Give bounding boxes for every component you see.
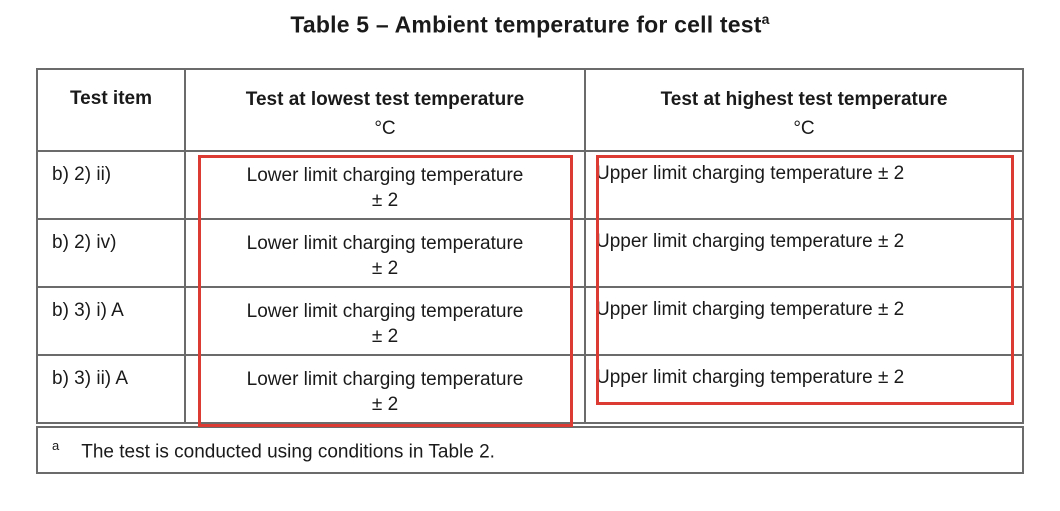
cell-lowest-temperature-line1: Lower limit charging temperature <box>247 233 524 254</box>
cell-lowest-temperature-line1: Lower limit charging temperature <box>247 301 524 322</box>
cell-test-item-text: b) 2) iv) <box>38 220 184 254</box>
cell-lowest-temperature-line1: Lower limit charging temperature <box>247 165 524 186</box>
column-header-highest-temperature-unit: °C <box>594 116 1014 142</box>
cell-lowest-temperature-line2: ± 2 <box>372 258 398 279</box>
cell-test-item-text: b) 3) i) A <box>38 288 184 322</box>
cell-highest-temperature-text: Upper limit charging temperature ± 2 <box>586 288 1022 321</box>
column-header-test-item-label: Test item <box>38 70 184 110</box>
table-footnote-row: aThe test is conducted using conditions … <box>37 427 1023 473</box>
cell-highest-temperature: Upper limit charging temperature ± 2 <box>585 355 1023 423</box>
column-header-highest-temperature: Test at highest test temperature °C <box>585 69 1023 151</box>
cell-lowest-temperature: Lower limit charging temperature ± 2 <box>185 355 585 423</box>
column-header-test-item: Test item <box>37 69 185 151</box>
cell-lowest-temperature: Lower limit charging temperature ± 2 <box>185 151 585 219</box>
cell-highest-temperature-text: Upper limit charging temperature ± 2 <box>586 220 1022 253</box>
table-row: b) 3) i) A Lower limit charging temperat… <box>37 287 1023 355</box>
cell-highest-temperature: Upper limit charging temperature ± 2 <box>585 287 1023 355</box>
page-title-text: Table 5 – Ambient temperature for cell t… <box>290 12 761 38</box>
column-header-lowest-temperature-unit: °C <box>194 116 576 142</box>
table-header-row: Test item Test at lowest test temperatur… <box>37 69 1023 151</box>
ambient-temperature-table: Test item Test at lowest test temperatur… <box>36 68 1024 474</box>
cell-test-item: b) 2) iv) <box>37 219 185 287</box>
cell-test-item: b) 3) ii) A <box>37 355 185 423</box>
cell-test-item: b) 2) ii) <box>37 151 185 219</box>
cell-lowest-temperature-line2: ± 2 <box>372 326 398 347</box>
table-row: b) 3) ii) A Lower limit charging tempera… <box>37 355 1023 423</box>
page-title-footnote-marker: a <box>762 11 770 27</box>
footnote-marker: a <box>52 438 59 453</box>
cell-highest-temperature-text: Upper limit charging temperature ± 2 <box>586 356 1022 389</box>
column-header-highest-temperature-label: Test at highest test temperature <box>661 89 948 110</box>
column-header-lowest-temperature-label: Test at lowest test temperature <box>246 89 524 110</box>
cell-highest-temperature: Upper limit charging temperature ± 2 <box>585 151 1023 219</box>
column-header-lowest-temperature: Test at lowest test temperature °C <box>185 69 585 151</box>
cell-lowest-temperature-line1: Lower limit charging temperature <box>247 369 524 390</box>
footnote-text: The test is conducted using conditions i… <box>81 441 495 462</box>
cell-highest-temperature-text: Upper limit charging temperature ± 2 <box>586 152 1022 185</box>
cell-lowest-temperature: Lower limit charging temperature ± 2 <box>185 219 585 287</box>
cell-lowest-temperature-line2: ± 2 <box>372 394 398 415</box>
ambient-temperature-table-wrapper: Test item Test at lowest test temperatur… <box>36 68 1022 474</box>
cell-footnote: aThe test is conducted using conditions … <box>37 427 1023 473</box>
cell-highest-temperature: Upper limit charging temperature ± 2 <box>585 219 1023 287</box>
cell-lowest-temperature: Lower limit charging temperature ± 2 <box>185 287 585 355</box>
page-title: Table 5 – Ambient temperature for cell t… <box>0 11 1060 39</box>
cell-test-item-text: b) 2) ii) <box>38 152 184 186</box>
cell-test-item-text: b) 3) ii) A <box>38 356 184 390</box>
table-row: b) 2) ii) Lower limit charging temperatu… <box>37 151 1023 219</box>
table-row: b) 2) iv) Lower limit charging temperatu… <box>37 219 1023 287</box>
cell-test-item: b) 3) i) A <box>37 287 185 355</box>
cell-lowest-temperature-line2: ± 2 <box>372 190 398 211</box>
